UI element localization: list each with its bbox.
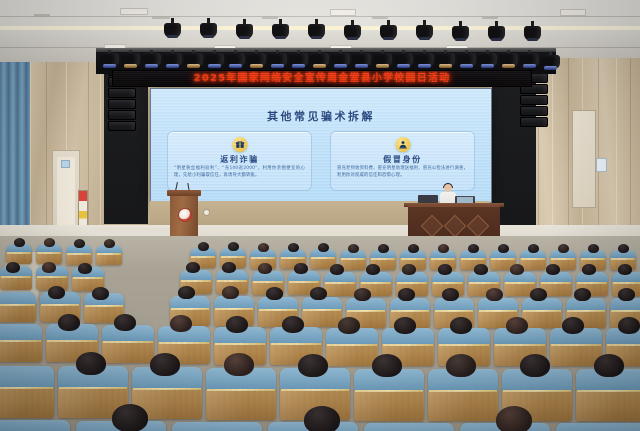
audience-head	[76, 352, 106, 375]
wall-switch-panel[interactable]	[596, 158, 607, 172]
par-light-icon	[394, 50, 413, 70]
seat[interactable]	[364, 423, 454, 431]
audience-head	[402, 264, 416, 275]
audience-head	[42, 262, 56, 273]
audience-head	[558, 244, 569, 253]
ceiling-spotlight-icon	[200, 18, 217, 38]
audience-head	[310, 287, 327, 300]
audience-head	[588, 244, 599, 253]
seat[interactable]	[36, 244, 62, 264]
audience-head	[378, 244, 389, 253]
wall-outlet-icon	[203, 209, 210, 216]
audience-head	[474, 264, 488, 275]
par-light-icon	[331, 50, 350, 70]
ceiling-spotlight-icon	[524, 21, 541, 41]
audience-head	[510, 264, 524, 275]
audience-head	[398, 288, 415, 301]
audience-head	[438, 264, 452, 275]
par-light-icon	[268, 50, 287, 70]
audience-head	[338, 317, 360, 334]
par-light-icon	[415, 50, 434, 70]
audience-head	[78, 263, 92, 274]
exit-sign-icon	[61, 160, 70, 168]
audience-head	[354, 288, 371, 301]
audience-head	[226, 316, 248, 333]
par-light-icon	[541, 52, 560, 72]
audience-head	[304, 406, 340, 431]
par-light-icon	[478, 50, 497, 70]
audience-head	[318, 243, 329, 252]
ceiling-spotlight-icon	[236, 19, 253, 39]
seat[interactable]	[0, 366, 54, 418]
audience-head	[394, 317, 416, 334]
seat[interactable]	[522, 298, 562, 328]
seat[interactable]	[302, 297, 342, 327]
audience-head	[92, 287, 109, 300]
par-light-icon	[520, 50, 539, 70]
audience-head	[258, 263, 272, 274]
audience-head	[282, 316, 304, 333]
audience-head	[170, 315, 192, 332]
audience-head	[408, 244, 419, 253]
audience-head	[14, 238, 25, 247]
audience-head	[372, 354, 402, 377]
ceiling-spotlight-icon	[416, 20, 433, 40]
ceiling-spotlight-icon	[488, 21, 505, 41]
gift-box-icon	[232, 137, 247, 152]
seat[interactable]	[340, 250, 366, 270]
audience-head	[298, 354, 328, 377]
ceiling-spotlight-icon	[272, 19, 289, 39]
par-light-icon	[121, 50, 140, 70]
audience-head	[528, 244, 539, 253]
audience-head	[468, 244, 479, 253]
seat[interactable]	[96, 245, 122, 265]
audience-head	[582, 264, 596, 275]
slide-card: 假冒身份 冒充老师收资料费、冒充明星助理送福利、冒充公检法进行调查，利用你对权威…	[330, 131, 475, 191]
led-banner: 2025年国家网络安全宣传周金堂县小学校园日活动	[112, 70, 532, 87]
slide-card-body: “明星粉丝福利返利”、“充100返2000”，利用你贪图便宜的心理，先给小利骗取…	[174, 165, 305, 179]
audience-head	[294, 263, 308, 274]
audience-head	[530, 288, 547, 301]
audience-head	[104, 239, 115, 248]
par-light-icon	[352, 50, 371, 70]
slide-card-title: 返利诈骗	[168, 154, 311, 165]
ceiling-spotlight-icon	[308, 19, 325, 39]
audience-head	[520, 354, 550, 377]
stage-curtain	[0, 62, 30, 232]
audience-head	[496, 406, 532, 431]
ceiling-spotlight-icon	[164, 18, 181, 38]
seat[interactable]	[324, 272, 356, 296]
audience-head	[222, 262, 236, 273]
par-light-icon	[499, 50, 518, 70]
audience-head	[618, 264, 632, 275]
slide-card: 返利诈骗 “明星粉丝福利返利”、“充100返2000”，利用你贪图便宜的心理，先…	[167, 131, 312, 191]
audience-head	[48, 286, 65, 299]
ceiling-spotlight-icon	[380, 20, 397, 40]
seat[interactable]	[520, 250, 546, 270]
par-light-icon	[184, 50, 203, 70]
stage-door-right[interactable]	[572, 110, 596, 208]
audience-head	[486, 288, 503, 301]
seat[interactable]	[6, 244, 32, 264]
audience-head	[618, 244, 629, 253]
par-light-icon	[457, 50, 476, 70]
par-light-icon	[436, 50, 455, 70]
audience-head	[228, 242, 239, 251]
audience-head	[330, 264, 344, 275]
par-light-icon	[310, 50, 329, 70]
par-light-icon	[247, 50, 266, 70]
audience-head	[618, 288, 635, 301]
par-light-icon	[226, 50, 245, 70]
audience-head	[224, 353, 254, 376]
audience-head	[222, 286, 239, 299]
par-light-icon	[100, 50, 119, 70]
audience-head	[6, 262, 20, 273]
audience-head	[442, 288, 459, 301]
seat[interactable]	[556, 423, 640, 431]
par-light-icon	[163, 50, 182, 70]
audience-head	[74, 239, 85, 248]
audience-head	[198, 242, 209, 251]
audience-head	[438, 244, 449, 253]
slide-title: 其他常见骗术拆解	[151, 108, 491, 124]
ceiling-spotlight-icon	[344, 20, 361, 40]
audience-head	[366, 264, 380, 275]
audience-head	[450, 317, 472, 334]
par-light-icon	[373, 50, 392, 70]
audience-head	[594, 354, 624, 377]
auditorium-scene: 2025年国家网络安全宣传周金堂县小学校园日活动 其他常见骗术拆解	[0, 0, 640, 431]
audience-head	[186, 262, 200, 273]
seat[interactable]	[0, 420, 70, 431]
audience-head	[112, 404, 148, 431]
audience-head	[498, 244, 509, 253]
slide-card-body: 冒充老师收资料费、冒充明星助理送福利、冒充公检法进行调查，利用你对权威的信任和恐…	[337, 165, 468, 179]
seat[interactable]	[172, 422, 262, 431]
ceiling-spotlight-icon	[452, 21, 469, 41]
audience-head	[258, 243, 269, 252]
slide-card-title: 假冒身份	[331, 154, 474, 165]
fire-extinguisher-cabinet	[78, 190, 88, 230]
seat[interactable]	[0, 324, 42, 362]
school-crest-icon	[178, 208, 192, 222]
audience-head	[44, 238, 55, 247]
par-light-icon	[289, 50, 308, 70]
audience-head	[506, 317, 528, 334]
audience-head	[288, 243, 299, 252]
seat[interactable]	[0, 292, 36, 322]
audience-head	[178, 286, 195, 299]
par-light-icon	[142, 50, 161, 70]
audience-head	[546, 264, 560, 275]
person-badge-icon	[395, 137, 410, 152]
par-light-icon	[205, 50, 224, 70]
audience-head	[562, 317, 584, 334]
slide-cards: 返利诈骗 “明星粉丝福利返利”、“充100返2000”，利用你贪图便宜的心理，先…	[167, 131, 475, 191]
audience-head	[266, 287, 283, 300]
audience-head	[574, 288, 591, 301]
audience-head	[114, 314, 136, 331]
audience-head	[618, 317, 640, 334]
audience-head	[446, 354, 476, 377]
audience-head	[58, 314, 80, 331]
seat[interactable]	[66, 245, 92, 265]
audience-head	[150, 353, 180, 376]
audience-head	[348, 244, 359, 253]
